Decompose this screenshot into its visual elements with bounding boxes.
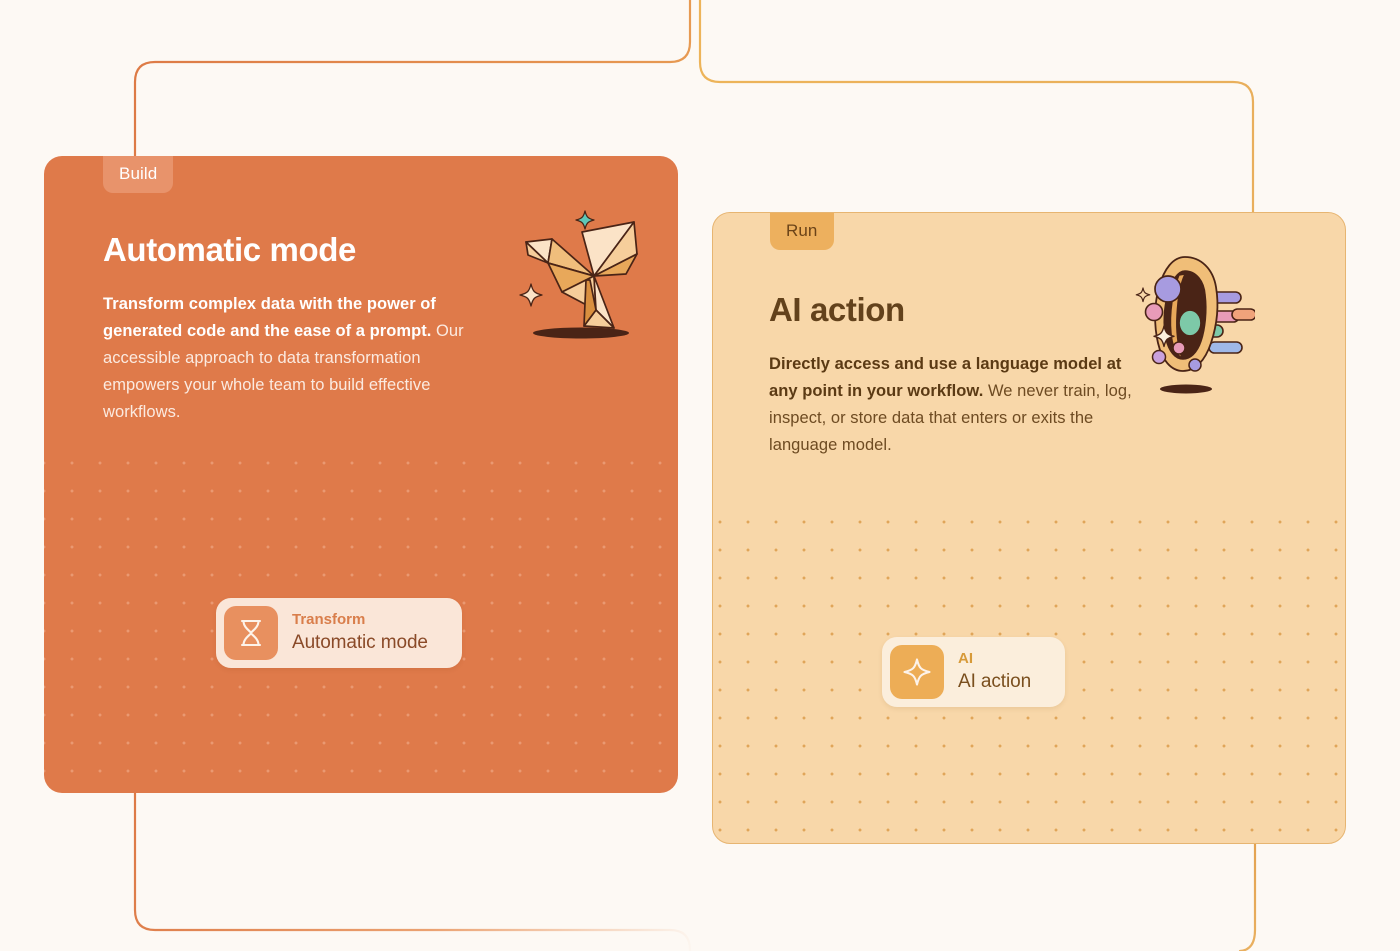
node-text: Transform Automatic mode: [292, 611, 454, 655]
portal-interior: [1164, 271, 1206, 359]
node-label-ai-action: AI action: [958, 670, 1031, 695]
card-run-body: AI action Directly access and use a lang…: [769, 291, 1141, 459]
portal-ring: [1155, 257, 1217, 371]
feature-cards-canvas: Build Automatic mode Transform complex d…: [0, 0, 1400, 951]
hourglass-icon: [238, 618, 264, 648]
card-tab-build[interactable]: Build: [103, 156, 173, 193]
pill-blue: [1209, 342, 1242, 353]
portal-streak: [1170, 274, 1185, 358]
sparkle-portal-large: [1154, 326, 1174, 347]
card-run[interactable]: Run AI action Directly access and use a …: [712, 212, 1346, 844]
node-ai-action[interactable]: AI AI action: [882, 637, 1065, 707]
portal-shadow: [1160, 385, 1212, 394]
origami-bird-illustration: [504, 206, 654, 351]
card-build-description-bold: Transform complex data with the power of…: [103, 295, 436, 340]
card-run-description: Directly access and use a language model…: [769, 351, 1141, 459]
bird-shadow: [533, 328, 629, 339]
pill-coral: [1232, 309, 1255, 320]
page-title-run: AI action: [769, 291, 1141, 329]
pill-green: [1201, 325, 1223, 337]
node-icon-wrap: [224, 606, 278, 660]
connector-top-into-build: [135, 0, 690, 160]
card-build-body: Automatic mode Transform complex data wi…: [103, 231, 475, 425]
orb-violet-bottom: [1189, 359, 1201, 371]
orb-pink-small: [1173, 342, 1185, 354]
sparkle-star-icon: [902, 657, 932, 687]
node-transform-automatic-mode[interactable]: Transform Automatic mode: [216, 598, 462, 668]
pill-pink: [1209, 311, 1239, 322]
node-kicker-ai: AI: [958, 650, 1031, 669]
node-label-automatic-mode: Automatic mode: [292, 631, 428, 656]
connector-top-into-run: [700, 0, 1253, 216]
card-build-description: Transform complex data with the power of…: [103, 291, 475, 425]
node-icon-wrap: [890, 645, 944, 699]
orb-violet-small: [1153, 351, 1166, 364]
connector-run-out-bottom: [1240, 843, 1255, 951]
orb-purple: [1155, 276, 1181, 302]
pill-lavender: [1207, 292, 1241, 303]
card-tab-run[interactable]: Run: [770, 213, 834, 250]
ai-portal-illustration: [1135, 247, 1255, 407]
card-build[interactable]: Build Automatic mode Transform complex d…: [44, 156, 678, 793]
orb-pink-left: [1146, 304, 1163, 321]
page-title-build: Automatic mode: [103, 231, 475, 269]
node-text: AI AI action: [958, 650, 1057, 694]
sparkle-teal: [576, 211, 594, 229]
node-kicker-transform: Transform: [292, 611, 428, 630]
orb-green: [1179, 310, 1201, 336]
sparkle-cream: [520, 284, 542, 306]
connector-build-out-bottom: [135, 790, 690, 951]
